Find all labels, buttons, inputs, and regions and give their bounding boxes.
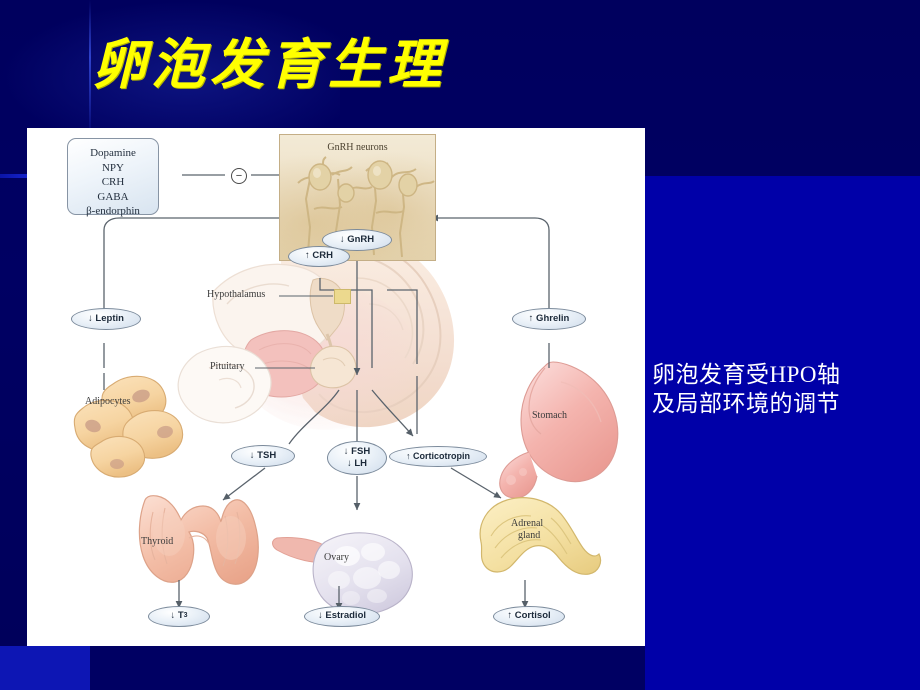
adrenal-gland-label-line1: Adrenal [511, 518, 543, 529]
inhibitor-box: Dopamine NPY CRH GABA β-endorphin [67, 138, 159, 215]
adipocytes-label: Adipocytes [85, 396, 131, 407]
slide-canvas: 卵泡发育生理 卵泡发育受HPO轴 及局部环境的调节 [0, 0, 920, 690]
background-bottom-right-accent [645, 646, 920, 690]
figure-panel: Dopamine NPY CRH GABA β-endorphin − [27, 128, 645, 646]
background-vertical-accent-line [89, 0, 91, 128]
background-right-accent-panel [645, 176, 920, 690]
pill-tsh: ↓ TSH [231, 445, 295, 467]
gnrh-neurons-label: GnRH neurons [280, 142, 435, 153]
thyroid-label: Thyroid [141, 536, 173, 547]
adrenal-gland-label-line2: gland [518, 530, 540, 541]
stomach-label: Stomach [532, 410, 567, 421]
pill-fsh-label: ↓ FSH [344, 446, 370, 458]
inhibitor-line-beta-endorphin: β-endorphin [68, 204, 158, 219]
hypothalamus-marker [334, 289, 351, 304]
hypothalamus-label: Hypothalamus [207, 289, 265, 300]
pill-crh: ↑ CRH [288, 246, 350, 267]
pill-t3: ↓ T3 [148, 606, 210, 627]
caption-line-1: 卵泡发育受HPO轴 [652, 360, 920, 389]
minus-sign-icon: − [231, 168, 247, 184]
pill-t3-label: ↓ T [170, 611, 183, 622]
pill-cortisol: ↑ Cortisol [493, 606, 565, 627]
pill-t3-subscript: 3 [184, 612, 188, 620]
inhibitor-line-gaba: GABA [68, 190, 158, 205]
pill-ghrelin: ↑ Ghrelin [512, 308, 586, 330]
inhibitor-line-npy: NPY [68, 161, 158, 176]
pill-estradiol: ↓ Estradiol [304, 606, 380, 627]
inhibitor-line-crh: CRH [68, 175, 158, 190]
page-title: 卵泡发育生理 [92, 38, 446, 92]
pituitary-label: Pituitary [210, 361, 244, 372]
inhibitor-line-dopamine: Dopamine [68, 146, 158, 161]
pill-leptin: ↓ Leptin [71, 308, 141, 330]
background-bottom-left-block [0, 646, 90, 690]
pill-corticotropin: ↑ Corticotropin [389, 446, 487, 467]
pill-fsh-lh: ↓ FSH ↓ LH [327, 441, 387, 475]
ovary-label: Ovary [324, 552, 349, 563]
caption-line-2: 及局部环境的调节 [652, 389, 920, 418]
slide-caption: 卵泡发育受HPO轴 及局部环境的调节 [652, 360, 920, 419]
pill-lh-label: ↓ LH [347, 458, 367, 470]
